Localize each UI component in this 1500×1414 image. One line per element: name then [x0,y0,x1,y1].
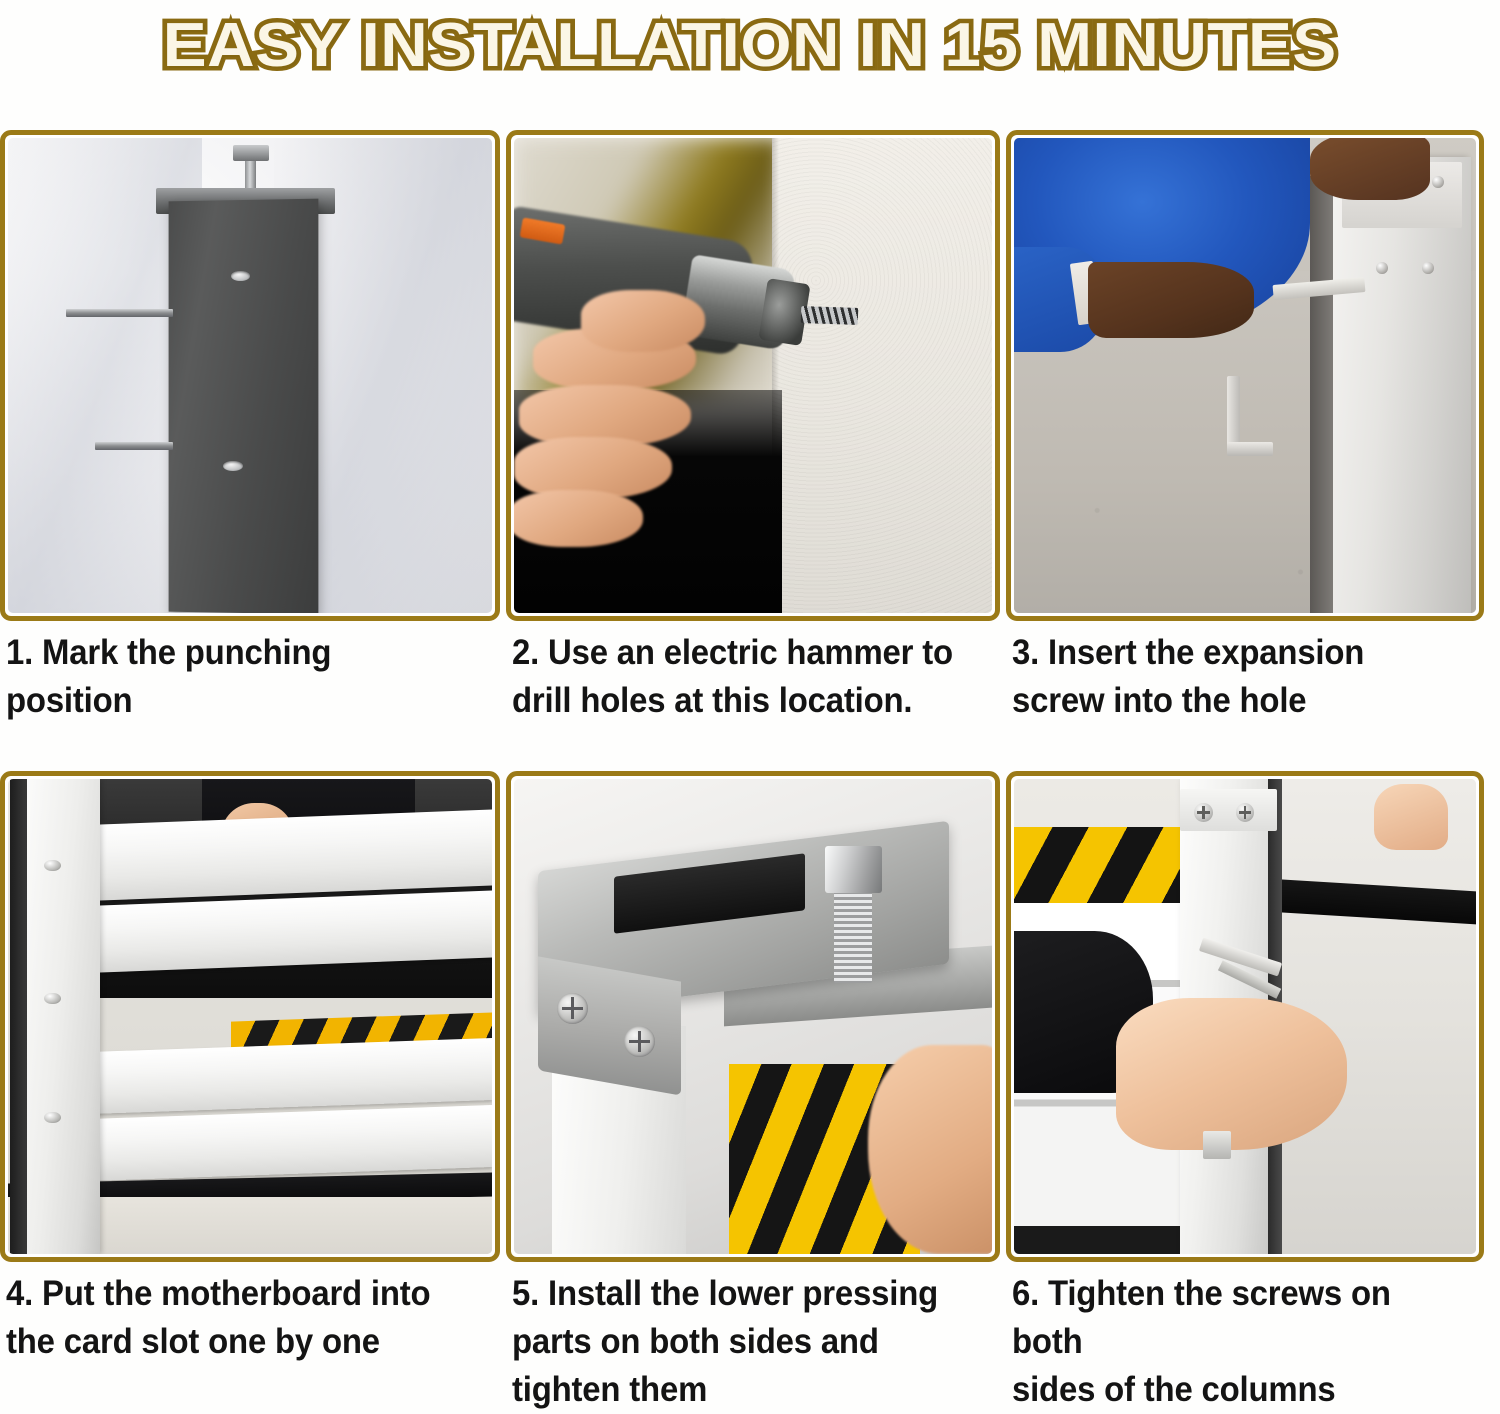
step-photo-2 [514,138,992,613]
step-card-3: 3. Insert the expansion screw into the h… [1006,130,1484,621]
step-photo-1 [8,138,492,613]
step-photo-frame-4 [0,771,500,1262]
step-card-4: 4. Put the motherboard into the card slo… [0,771,500,1262]
step-photo-6 [1014,779,1476,1254]
step-photo-frame-3 [1006,130,1484,621]
step-caption-1: 1. Mark the punching position [6,629,467,725]
step-caption-3: 3. Insert the expansion screw into the h… [1012,629,1452,725]
page-title: EASY INSTALLATION IN 15 MINUTES [163,15,1337,77]
step-card-2: 2. Use an electric hammer to drill holes… [506,130,1000,621]
step-card-1: 1. Mark the punching position [0,130,500,621]
step-photo-frame-2 [506,130,1000,621]
step-caption-4: 4. Put the motherboard into the card slo… [6,1270,467,1366]
step-caption-6: 6. Tighten the screws on both sides of t… [1012,1270,1452,1414]
step-caption-2: 2. Use an electric hammer to drill holes… [512,629,967,725]
step-photo-frame-5 [506,771,1000,1262]
step-card-6: 6. Tighten the screws on both sides of t… [1006,771,1484,1262]
step-photo-frame-6 [1006,771,1484,1262]
step-caption-5: 5. Install the lower pressing parts on b… [512,1270,967,1414]
step-photo-4 [8,779,492,1254]
step-photo-5 [514,779,992,1254]
step-photo-frame-1 [0,130,500,621]
step-photo-3 [1014,138,1476,613]
header-banner: EASY INSTALLATION IN 15 MINUTES [0,0,1500,92]
steps-grid: 1. Mark the punching position 2. Use [0,92,1500,1403]
step-card-5: 5. Install the lower pressing parts on b… [506,771,1000,1262]
